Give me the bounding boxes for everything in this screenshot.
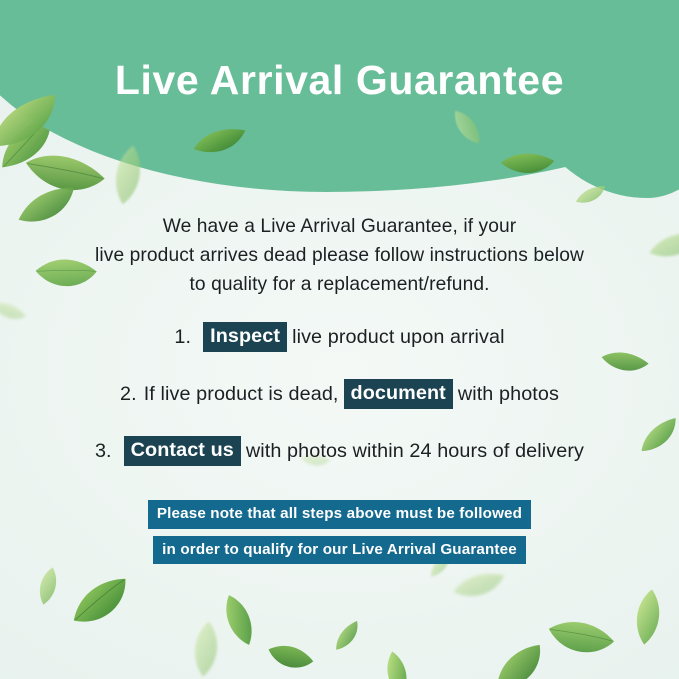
step-item: 2. If live product is dead, document wit… (34, 375, 645, 413)
leaf-icon (183, 618, 229, 679)
intro-line-3: to quality for a replacement/refund. (60, 270, 619, 299)
step-text-after: with photos within 24 hours of delivery (246, 440, 584, 463)
step-item: 1. Inspect live product upon arrival (34, 318, 645, 356)
leaf-icon (484, 638, 557, 679)
leaf-icon (257, 627, 320, 679)
step-highlight: Inspect (203, 322, 287, 351)
leaf-icon (646, 227, 679, 266)
intro-paragraph: We have a Live Arrival Guarantee, if you… (60, 212, 619, 299)
notice-line-1: Please note that all steps above must be… (148, 500, 531, 529)
notice-line-2: in order to qualify for our Live Arrival… (153, 536, 526, 565)
step-number: 1. (174, 326, 191, 349)
intro-line-1: We have a Live Arrival Guarantee, if you… (60, 212, 619, 241)
step-text-after: live product upon arrival (292, 326, 505, 349)
intro-line-2: live product arrives dead please follow … (60, 241, 619, 270)
leaf-icon (0, 292, 30, 332)
leaf-icon (538, 600, 620, 677)
leaf-icon (62, 571, 140, 637)
leaf-icon (368, 645, 427, 679)
page-title: Live Arrival Guarantee (0, 58, 679, 104)
step-highlight: Contact us (124, 436, 241, 465)
step-number: 3. (95, 440, 112, 463)
leaf-icon (451, 568, 507, 606)
notice-banner: Please note that all steps above must be… (0, 500, 679, 564)
leaf-icon (624, 585, 672, 648)
step-text-after: with photos (458, 383, 559, 406)
leaf-icon (31, 563, 64, 610)
step-highlight: document (344, 379, 453, 408)
leaf-icon (326, 615, 370, 658)
step-item: 3. Contact us with photos within 24 hour… (34, 432, 645, 470)
step-text-before: If live product is dead, (144, 383, 339, 406)
leaf-icon (209, 586, 269, 654)
steps-list: 1. Inspect live product upon arrival 2. … (34, 318, 645, 489)
step-number: 2. (120, 383, 137, 406)
live-arrival-guarantee-poster: Live Arrival Guarantee (0, 0, 679, 679)
